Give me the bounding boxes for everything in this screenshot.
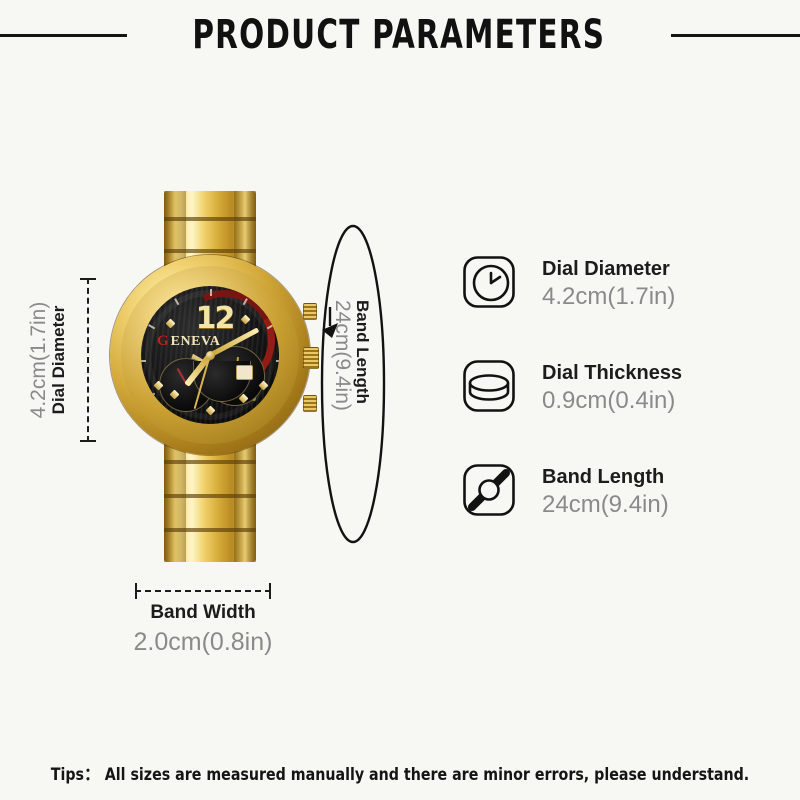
spec-label: Dial Diameter xyxy=(542,258,675,281)
band-length-annotation-value: 24cm(9.4in) xyxy=(332,300,353,411)
spec-label: Band Length xyxy=(542,466,669,489)
watch-case: 12 G ENEVA xyxy=(110,255,310,455)
spec-text-band-length: Band Length 24cm(9.4in) xyxy=(542,466,669,519)
date-window xyxy=(236,365,253,380)
spec-value: 4.2cm(1.7in) xyxy=(542,283,675,311)
dial-diameter-annotation-value: 4.2cm(1.7in) xyxy=(28,302,49,419)
dial-brand-logo: G ENEVA xyxy=(157,333,220,350)
spec-list: Dial Diameter 4.2cm(1.7in) Dial Thicknes… xyxy=(462,247,762,559)
spec-value: 0.9cm(0.4in) xyxy=(542,387,682,415)
watch-dial: 12 G ENEVA xyxy=(141,286,279,424)
title-rule-left xyxy=(0,34,127,37)
cylinder-thickness-icon xyxy=(462,359,520,417)
watch-band-icon xyxy=(462,463,520,521)
chrono-pusher-bottom xyxy=(303,395,317,412)
watch-crown xyxy=(303,347,319,369)
watch-bezel: 12 G ENEVA xyxy=(121,266,299,444)
band-width-annotation: Band Width 2.0cm(0.8in) xyxy=(75,602,331,657)
spec-text-dial-diameter: Dial Diameter 4.2cm(1.7in) xyxy=(542,258,675,311)
dial-diameter-annotation: Dial Diameter 4.2cm(1.7in) xyxy=(14,302,80,419)
product-image-watch: 12 G ENEVA xyxy=(100,185,320,570)
dimension-line-vertical xyxy=(87,278,89,442)
dimension-cap-right xyxy=(269,583,271,599)
band-length-loop: 24cm(9.4in) Band Length xyxy=(318,222,388,547)
spec-row-dial-thickness: Dial Thickness 0.9cm(0.4in) xyxy=(462,351,762,425)
band-length-annotation: 24cm(9.4in) Band Length xyxy=(332,300,371,411)
page-title-row: PRODUCT PARAMETERS xyxy=(0,10,800,60)
title-rule-right xyxy=(671,34,800,37)
watch-dial-icon xyxy=(462,255,520,313)
brand-name: ENEVA xyxy=(171,334,221,350)
band-width-annotation-value: 2.0cm(0.8in) xyxy=(75,628,331,657)
spec-label: Dial Thickness xyxy=(542,362,682,385)
product-parameters-page: PRODUCT PARAMETERS xyxy=(0,0,800,800)
spec-text-dial-thickness: Dial Thickness 0.9cm(0.4in) xyxy=(542,362,682,415)
dial-diameter-dimension: Dial Diameter 4.2cm(1.7in) xyxy=(80,278,96,442)
dimension-cap-bottom xyxy=(80,440,96,442)
brand-initial: G xyxy=(157,333,169,350)
dimension-line-horizontal xyxy=(135,590,271,592)
dial-pinion xyxy=(206,351,215,360)
spec-row-band-length: Band Length 24cm(9.4in) xyxy=(462,455,762,529)
band-width-dimension xyxy=(135,583,271,599)
spec-value: 24cm(9.4in) xyxy=(542,491,669,519)
dial-diameter-annotation-label: Dial Diameter xyxy=(50,306,67,415)
chrono-pusher-top xyxy=(303,303,317,320)
footer-tips: Tips： All sizes are measured manually an… xyxy=(28,760,772,785)
band-length-annotation-label: Band Length xyxy=(354,300,371,411)
spec-row-dial-diameter: Dial Diameter 4.2cm(1.7in) xyxy=(462,247,762,321)
watch-bracelet-bottom xyxy=(164,442,256,562)
page-title: PRODUCT PARAMETERS xyxy=(193,12,606,58)
dial-numeral-12: 12 xyxy=(196,301,234,336)
band-width-annotation-label: Band Width xyxy=(75,602,331,624)
